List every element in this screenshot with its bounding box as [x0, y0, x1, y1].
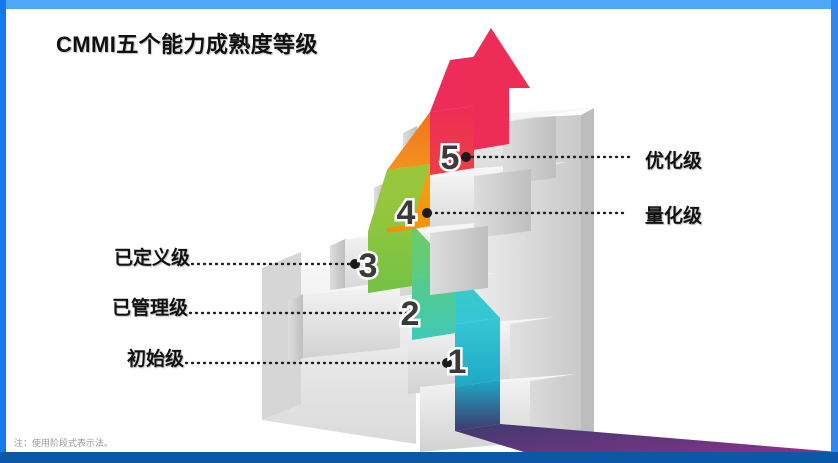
connector-dot-5	[461, 152, 471, 162]
frame-edge-top	[0, 0, 838, 9]
frame-edge-bottom	[0, 452, 838, 463]
level-label-2: 已管理级	[112, 293, 188, 320]
level-label-5: 优化级	[645, 146, 702, 173]
level-number-2: 2	[401, 295, 420, 333]
page-title: CMMI五个能力成熟度等级	[56, 27, 318, 59]
level-label-3: 已定义级	[114, 243, 190, 270]
footnote: 注：使用阶段式表示法。	[14, 436, 113, 449]
frame-edge-left	[0, 0, 6, 463]
level-number-5: 5	[441, 139, 460, 177]
cmmi-staircase-diagram: 5 4 3 2 1	[0, 0, 838, 463]
slide-canvas: 5 4 3 2 1 CMMI五个能力成熟度等级 优化级 量化级 已定义级 已管理…	[0, 0, 838, 463]
level-number-1: 1	[448, 343, 467, 381]
level-number-3: 3	[359, 247, 378, 285]
level-label-4: 量化级	[645, 201, 702, 228]
frame-edge-right	[831, 0, 838, 463]
level-label-1: 初始级	[127, 344, 184, 371]
level-number-4: 4	[397, 194, 416, 232]
connector-dot-4	[422, 208, 432, 218]
